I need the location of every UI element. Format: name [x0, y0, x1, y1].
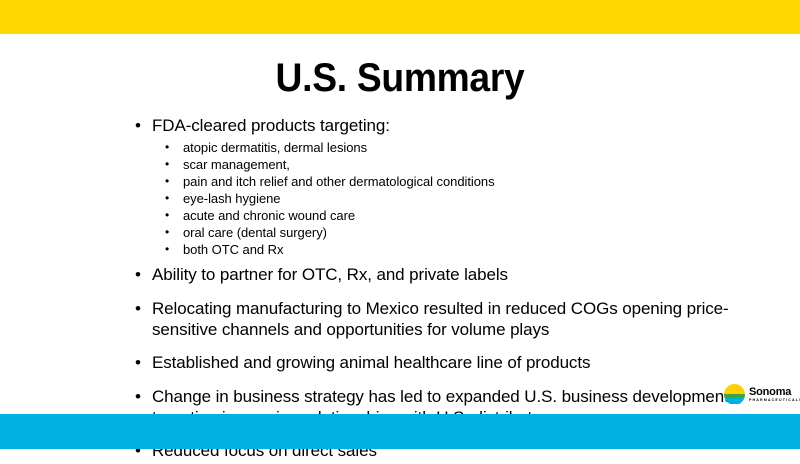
list-item: • atopic dermatitis, dermal lesions — [130, 139, 730, 156]
list-item: • oral care (dental surgery) — [130, 224, 730, 241]
list-item-text: acute and chronic wound care — [183, 207, 730, 224]
bullet-dot-icon: • — [130, 190, 183, 207]
spacer — [130, 376, 730, 386]
page-title: U.S. Summary — [28, 55, 772, 101]
spacer — [130, 288, 730, 298]
list-item-text: pain and itch relief and other dermatolo… — [183, 173, 730, 190]
bullet-dot-icon: • — [130, 173, 183, 190]
top-accent-bar — [0, 0, 800, 34]
list-item-text: oral care (dental surgery) — [183, 224, 730, 241]
bullet-dot-icon: • — [130, 298, 152, 320]
logo-wordmark: Sonoma PHARMACEUTICALS — [749, 386, 800, 403]
list-item: • FDA-cleared products targeting: — [130, 115, 730, 137]
bullet-dot-icon: • — [130, 264, 152, 286]
list-item: • scar management, — [130, 156, 730, 173]
logo-band-cyan — [724, 398, 745, 404]
bullet-list: • FDA-cleared products targeting: • atop… — [130, 115, 730, 464]
bullet-dot-icon: • — [130, 115, 152, 137]
list-item: • both OTC and Rx — [130, 241, 730, 258]
list-item: • eye-lash hygiene — [130, 190, 730, 207]
list-item-text: both OTC and Rx — [183, 241, 730, 258]
bullet-dot-icon: • — [130, 156, 183, 173]
logo-company-name: Sonoma — [749, 386, 800, 398]
list-item-text: scar management, — [183, 156, 730, 173]
sonoma-logo: Sonoma PHARMACEUTICALS — [724, 381, 796, 407]
bullet-dot-icon: • — [130, 139, 183, 156]
list-item-text: atopic dermatitis, dermal lesions — [183, 139, 730, 156]
list-item: • Ability to partner for OTC, Rx, and pr… — [130, 264, 730, 286]
sonoma-circle-icon — [724, 384, 745, 405]
list-item: • Established and growing animal healthc… — [130, 352, 730, 374]
list-item: • Relocating manufacturing to Mexico res… — [130, 298, 730, 340]
list-item: • acute and chronic wound care — [130, 207, 730, 224]
bullet-dot-icon: • — [130, 224, 183, 241]
list-item: • pain and itch relief and other dermato… — [130, 173, 730, 190]
bullet-dot-icon: • — [130, 386, 152, 408]
slide-canvas: U.S. Summary • FDA-cleared products targ… — [0, 0, 800, 449]
logo-band-yellow — [724, 384, 745, 395]
list-item-text: eye-lash hygiene — [183, 190, 730, 207]
list-item-text: Established and growing animal healthcar… — [152, 352, 730, 373]
spacer — [130, 342, 730, 352]
logo-tagline: PHARMACEUTICALS — [749, 398, 800, 403]
sub-bullet-list: • atopic dermatitis, dermal lesions • sc… — [130, 139, 730, 258]
list-item-text: Relocating manufacturing to Mexico resul… — [152, 298, 730, 340]
bullet-dot-icon: • — [130, 352, 152, 374]
list-item-text: Ability to partner for OTC, Rx, and priv… — [152, 264, 730, 285]
list-item-text: FDA-cleared products targeting: — [152, 115, 730, 136]
bullet-dot-icon: • — [130, 207, 183, 224]
bullet-dot-icon: • — [130, 241, 183, 258]
bottom-accent-bar — [0, 414, 800, 449]
